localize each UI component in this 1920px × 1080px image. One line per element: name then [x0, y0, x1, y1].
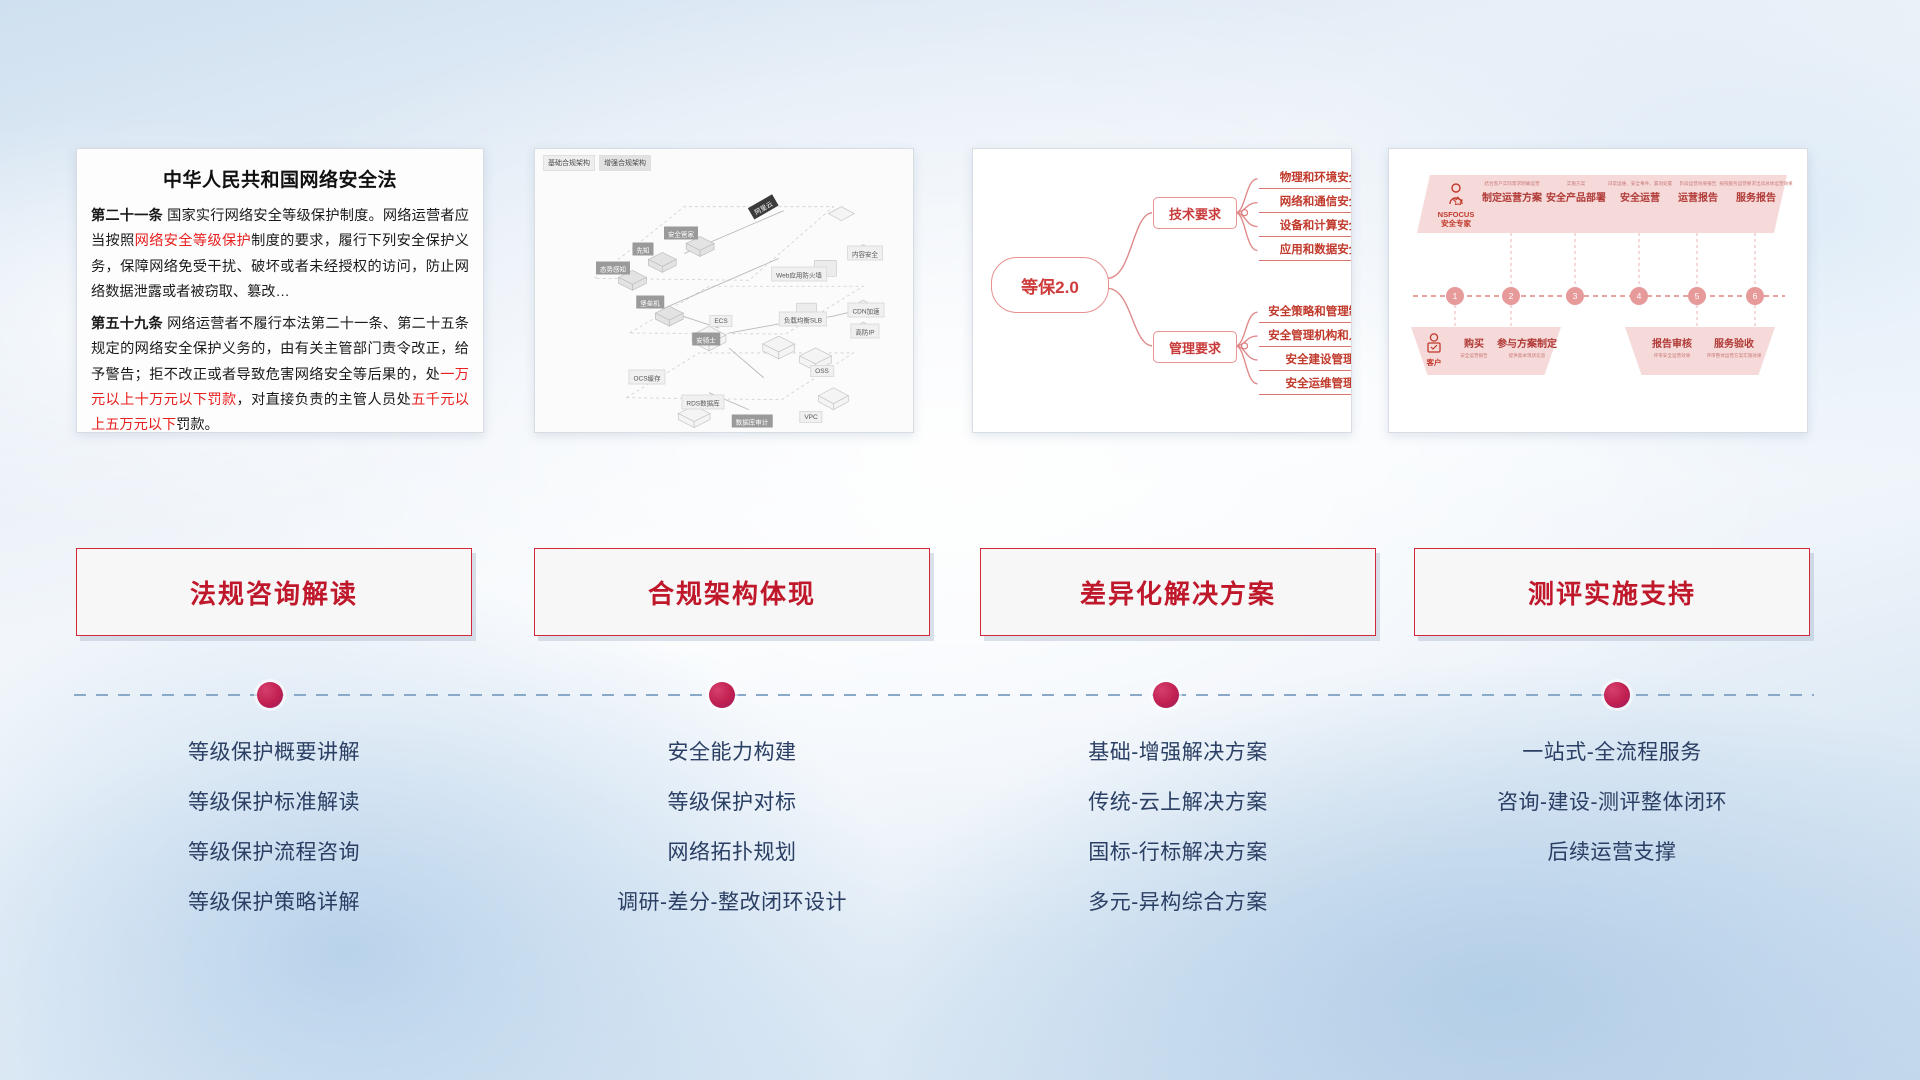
process-dot: 3 [1566, 287, 1584, 305]
arch-node-label: OCS缓存 [628, 370, 665, 385]
law-paragraph: 第五十九条 网络运营者不履行本法第二十一条、第二十五条规定的网络安全保护义务的，… [91, 312, 469, 433]
detail-item: 调研-差分-整改闭环设计 [534, 892, 930, 913]
timeline-dashed-line [74, 694, 1814, 696]
architecture-connectors [535, 149, 913, 433]
process-timeline [1413, 295, 1785, 297]
detail-column-4: 一站式-全流程服务 咨询-建设-测评整体闭环 后续运营支撑 [1414, 742, 1810, 892]
arch-node-label: VPC [799, 411, 822, 423]
mindmap-leaf: 物理和环境安全 [1259, 169, 1352, 189]
process-step-top: 结合客户实际需求明确运营 制定运营方案 [1475, 181, 1549, 204]
mindmap-leaf: 应用和数据安全 [1259, 241, 1352, 261]
law-text-segment: 罚款。 [176, 417, 219, 433]
process-step-bottom: 报告审核 评审安全运营效果 [1643, 335, 1701, 361]
mindmap-leaf: 安全管理机构和人员 [1259, 327, 1352, 347]
process-dot: 1 [1446, 287, 1464, 305]
card-cloud-architecture[interactable]: 基础合规架构 增强合规架构 [534, 148, 914, 433]
mindmap-leaf: 设备和计算安全 [1259, 217, 1352, 237]
process-tick-lower [1755, 305, 1756, 329]
detail-item: 等级保护流程咨询 [76, 842, 472, 863]
process-step-sub: 评审整体运营方案实施效果 [1701, 353, 1767, 359]
arch-node-label: 内容安全 [847, 246, 883, 261]
headline-label: 差异化解决方案 [1080, 574, 1276, 611]
arch-node-label: 安骑士 [692, 333, 720, 346]
timeline-dot-3 [1153, 682, 1179, 708]
process-step-title: 服务验收 [1701, 335, 1767, 350]
detail-item: 国标-行标解决方案 [980, 842, 1376, 863]
card-dengbao-mindmap[interactable]: 等保2.0 技术要求 管理要求 物理和环境安全 网络和通信安全 设备和计算安全 … [972, 148, 1352, 433]
process-step-sub: 实施方案 [1539, 181, 1613, 187]
process-dot: 4 [1630, 287, 1648, 305]
detail-column-1: 等级保护概要讲解 等级保护标准解读 等级保护流程咨询 等级保护策略详解 [76, 742, 472, 942]
arch-node-label: RDS数据库 [681, 395, 724, 410]
expert-person-icon [1446, 183, 1466, 205]
headline-label: 法规咨询解读 [190, 574, 358, 611]
card-cybersecurity-law[interactable]: 中华人民共和国网络安全法 第二十一条 国家实行网络安全等级保护制度。网络运营者应… [76, 148, 484, 433]
process-step-top: 实施方案 安全产品部署 [1539, 181, 1613, 204]
service-process-diagram: NSFOCUS 安全专家 结合客户实际需求明确运营 制定运营方案 实施方案 安全… [1389, 149, 1807, 432]
detail-column-2: 安全能力构建 等级保护对标 网络拓扑规划 调研-差分-整改闭环设计 [534, 742, 930, 942]
process-step-sub: 按照服务运营要求出具总体运营效果 [1719, 181, 1793, 187]
timeline-dot-2 [709, 682, 735, 708]
arch-node-label: 安全管家 [664, 227, 698, 240]
detail-item: 多元-异构综合方案 [980, 892, 1376, 913]
arch-node-label: 态势感知 [596, 262, 630, 275]
law-article-number: 第二十一条 [91, 208, 163, 224]
arch-node-label: Web应用防火墙 [771, 267, 827, 282]
process-step-bottom: 购买 安全运营报告 [1451, 335, 1497, 361]
security-expert-block: NSFOCUS 安全专家 [1433, 183, 1479, 229]
detail-item: 基础-增强解决方案 [980, 742, 1376, 763]
detail-column-3: 基础-增强解决方案 传统-云上解决方案 国标-行标解决方案 多元-异构综合方案 [980, 742, 1376, 942]
arch-node-label: CDN加速 [847, 303, 884, 318]
brand-subtitle: 安全专家 [1433, 219, 1479, 228]
process-step-sub: 评审安全运营效果 [1643, 353, 1701, 359]
law-article-number: 第五十九条 [91, 316, 163, 332]
law-body: 第二十一条 国家实行网络安全等级保护制度。网络运营者应当按照网络安全等级保护制度… [77, 204, 483, 433]
process-step-title: 安全产品部署 [1539, 189, 1613, 204]
process-step-sub: 结合客户实际需求明确运营 [1475, 181, 1549, 187]
mindmap-branch-management: 管理要求 [1153, 331, 1237, 363]
arch-node-label: ECS [709, 315, 732, 327]
headline-box-differentiated-solution[interactable]: 差异化解决方案 [980, 548, 1376, 636]
mindmap-leaf: 安全策略和管理制度 [1259, 303, 1352, 323]
process-step-sub: 安全运营报告 [1451, 353, 1497, 359]
mindmap-leaf: 网络和通信安全 [1259, 193, 1352, 213]
process-dot: 5 [1688, 287, 1706, 305]
arch-node-label: 堡垒机 [636, 296, 664, 309]
process-step-title: 报告审核 [1643, 335, 1701, 350]
detail-item: 后续运营支撑 [1414, 842, 1810, 863]
arch-node-label: 高防IP [850, 324, 879, 339]
mindmap-root-node: 等保2.0 [991, 257, 1109, 313]
headline-label: 合规架构体现 [648, 574, 816, 611]
top-card-row: 中华人民共和国网络安全法 第二十一条 国家实行网络安全等级保护制度。网络运营者应… [0, 148, 1920, 438]
process-step-bottom: 参与方案制定 提供基本现状信息 [1495, 335, 1559, 361]
detail-item: 咨询-建设-测评整体闭环 [1414, 792, 1810, 813]
headline-box-evaluation-support[interactable]: 测评实施支持 [1414, 548, 1810, 636]
law-text-segment: ，对直接负责的主管人员处 [237, 392, 412, 408]
brand-name: NSFOCUS [1433, 210, 1479, 219]
process-step-title: 服务报告 [1719, 189, 1793, 204]
detail-item: 等级保护策略详解 [76, 892, 472, 913]
customer-person-icon [1425, 333, 1443, 353]
process-step-sub: 提供基本现状信息 [1495, 353, 1559, 359]
customer-label: 客户 [1417, 358, 1451, 367]
mindmap: 等保2.0 技术要求 管理要求 物理和环境安全 网络和通信安全 设备和计算安全 … [973, 149, 1351, 432]
process-tick-lower [1697, 305, 1698, 329]
process-dot: 6 [1746, 287, 1764, 305]
process-dot: 2 [1502, 287, 1520, 305]
process-tick-lower [1455, 305, 1456, 329]
headline-box-regulation-consulting[interactable]: 法规咨询解读 [76, 548, 472, 636]
detail-item: 等级保护对标 [534, 792, 930, 813]
detail-item: 等级保护概要讲解 [76, 742, 472, 763]
timeline-dot-1 [257, 682, 283, 708]
law-paragraph: 第二十一条 国家实行网络安全等级保护制度。网络运营者应当按照网络安全等级保护制度… [91, 204, 469, 305]
detail-item: 传统-云上解决方案 [980, 792, 1376, 813]
arch-node-label: OSS [810, 365, 834, 377]
process-tick [1575, 233, 1576, 289]
detail-item: 等级保护标准解读 [76, 792, 472, 813]
mindmap-leaf: 安全运维管理 [1259, 375, 1352, 395]
process-step-title: 购买 [1451, 335, 1497, 350]
architecture-diagram: 基础合规架构 增强合规架构 [535, 149, 913, 432]
arch-node-label: 先知 [633, 243, 654, 256]
detail-item: 一站式-全流程服务 [1414, 742, 1810, 763]
process-tick [1697, 233, 1698, 289]
card-service-process[interactable]: NSFOCUS 安全专家 结合客户实际需求明确运营 制定运营方案 实施方案 安全… [1388, 148, 1808, 433]
mindmap-leaf: 安全建设管理 [1259, 351, 1352, 371]
process-tick-lower [1511, 305, 1512, 329]
detail-item: 安全能力构建 [534, 742, 930, 763]
headline-row: 法规咨询解读 合规架构体现 差异化解决方案 测评实施支持 [0, 548, 1920, 636]
process-step-top: 按照服务运营要求出具总体运营效果 服务报告 [1719, 181, 1793, 204]
headline-label: 测评实施支持 [1528, 574, 1696, 611]
process-tick [1639, 233, 1640, 289]
process-step-title: 参与方案制定 [1495, 335, 1559, 350]
mindmap-branch-technical: 技术要求 [1153, 197, 1237, 229]
process-step-title: 制定运营方案 [1475, 189, 1549, 204]
law-title: 中华人民共和国网络安全法 [77, 165, 483, 192]
headline-box-compliance-architecture[interactable]: 合规架构体现 [534, 548, 930, 636]
timeline-dot-4 [1604, 682, 1630, 708]
process-tick [1755, 233, 1756, 289]
arch-node-label: 负载均衡SLB [779, 312, 827, 327]
detail-item: 网络拓扑规划 [534, 842, 930, 863]
process-tick [1511, 233, 1512, 289]
arch-node-label: 数据库审计 [732, 415, 773, 428]
process-step-bottom: 服务验收 评审整体运营方案实施效果 [1701, 335, 1767, 361]
customer-block: 客户 [1417, 333, 1451, 367]
law-highlight-segment: 网络安全等级保护 [135, 233, 251, 249]
